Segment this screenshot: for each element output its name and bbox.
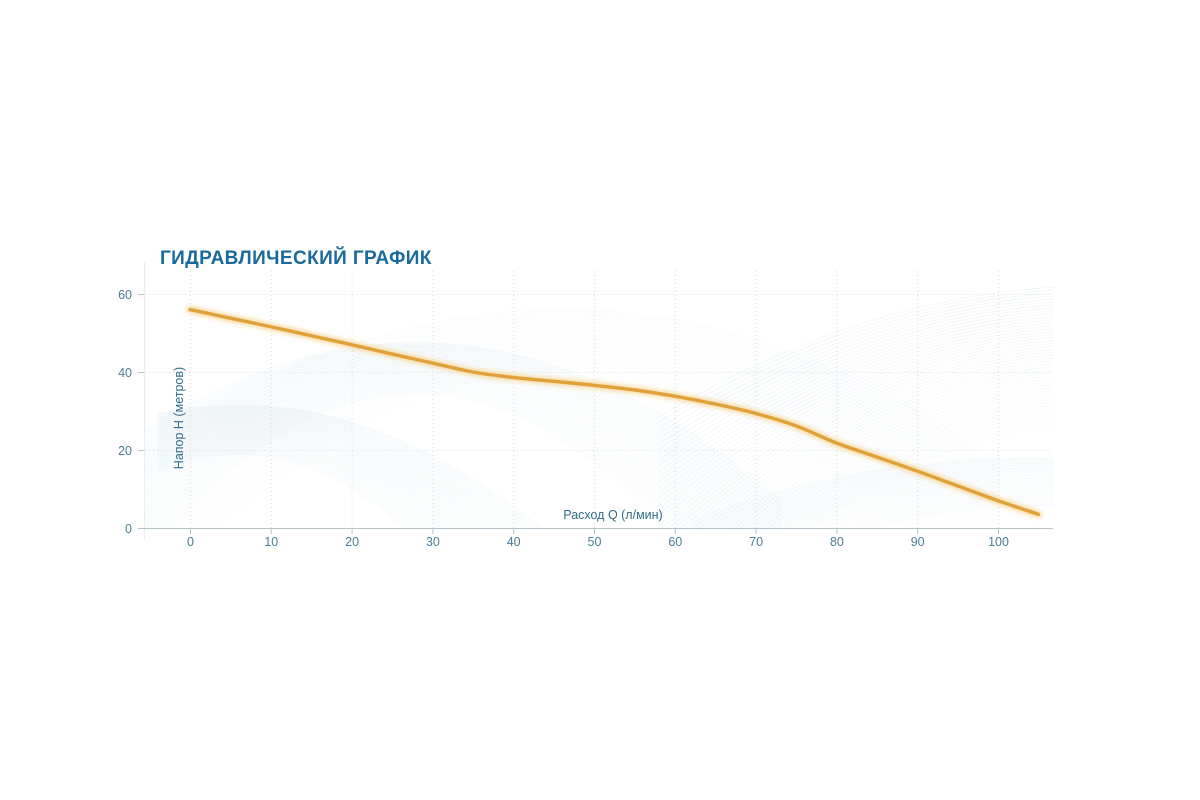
chart-title: ГИДРАВЛИЧЕСКИЙ ГРАФИК [160, 248, 432, 270]
x-tick-label: 80 [830, 535, 844, 549]
y-axis-title: Напор H (метров) [172, 367, 186, 469]
x-tick-label: 40 [507, 535, 521, 549]
x-tick-label: 70 [749, 535, 763, 549]
x-tick-label: 50 [588, 535, 602, 549]
x-axis-tick-labels: 0102030405060708090100 [187, 535, 1009, 549]
x-tick-label: 0 [187, 535, 194, 549]
y-axis-ticks [138, 295, 144, 529]
y-axis-tick-labels: 0204060 [118, 288, 132, 536]
y-tick-label: 40 [118, 366, 132, 380]
x-tick-label: 90 [911, 535, 925, 549]
x-axis-title: Расход Q (л/мин) [563, 508, 662, 522]
hydraulic-performance-chart: 0102030405060708090100 0204060 Расход Q … [0, 0, 1200, 800]
chart-figure: ГИДРАВЛИЧЕСКИЙ ГРАФИК 010203040506070809… [0, 0, 1200, 800]
x-tick-label: 10 [264, 535, 278, 549]
x-tick-label: 20 [345, 535, 359, 549]
y-tick-label: 20 [118, 444, 132, 458]
x-tick-label: 60 [668, 535, 682, 549]
x-tick-label: 100 [988, 535, 1009, 549]
y-tick-label: 0 [125, 522, 132, 536]
x-tick-label: 30 [426, 535, 440, 549]
y-tick-label: 60 [118, 288, 132, 302]
